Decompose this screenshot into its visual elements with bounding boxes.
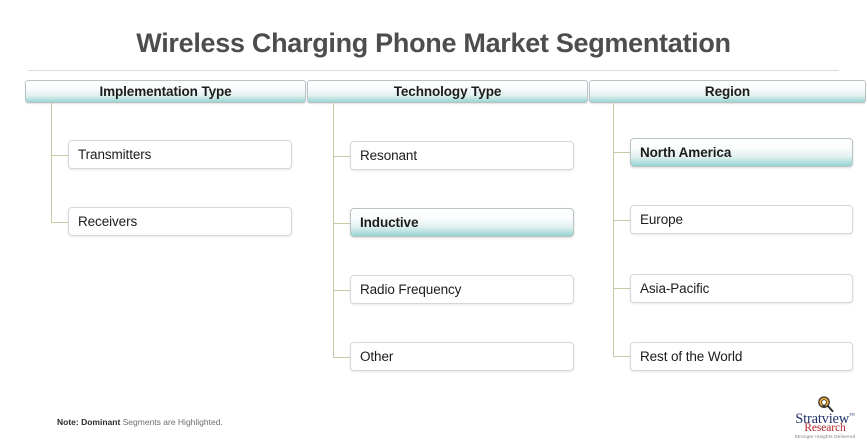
footer-note-rest: Segments are Highlighted. <box>120 417 223 427</box>
connector-stub-column-2-item-3 <box>333 290 350 291</box>
segment-item-europe[interactable]: Europe <box>630 205 853 234</box>
logo-tagline: Stronger Insights Delivered <box>786 434 864 439</box>
connector-stub-column-2-item-1 <box>333 156 350 157</box>
connector-stub-column-2-item-4 <box>333 357 350 358</box>
connector-stub-column-3-item-1 <box>613 152 630 153</box>
segment-item-label: Inductive <box>351 215 418 230</box>
segment-item-rest-of-the-world[interactable]: Rest of the World <box>630 342 853 371</box>
segment-item-north-america[interactable]: North America <box>630 138 853 167</box>
connector-trunk-column-3 <box>613 103 614 356</box>
segmentation-slide: Wireless Charging Phone Market Segmentat… <box>0 0 867 445</box>
segment-item-transmitters[interactable]: Transmitters <box>68 140 292 169</box>
column-header-technology-type[interactable]: Technology Type <box>307 80 588 103</box>
segment-item-label: Rest of the World <box>631 349 742 364</box>
segment-item-resonant[interactable]: Resonant <box>350 141 574 170</box>
segment-item-label: Receivers <box>69 214 137 229</box>
connector-stub-column-1-item-2 <box>51 222 68 223</box>
connector-trunk-column-2 <box>333 103 334 357</box>
segment-item-label: Radio Frequency <box>351 282 461 297</box>
footer-note: Note: Dominant Segments are Highlighted. <box>57 417 223 427</box>
segment-item-label: Other <box>351 349 393 364</box>
segment-item-label: Resonant <box>351 148 417 163</box>
footer-note-emphasis: Note: Dominant <box>57 417 120 427</box>
segment-item-label: Asia-Pacific <box>631 281 709 296</box>
column-header-label: Implementation Type <box>99 84 231 99</box>
connector-trunk-column-1 <box>51 103 52 222</box>
segment-item-label: Europe <box>631 212 683 227</box>
title-divider <box>28 70 839 71</box>
segment-item-label: North America <box>631 145 731 160</box>
column-header-label: Region <box>705 84 750 99</box>
segment-item-asia-pacific[interactable]: Asia-Pacific <box>630 274 853 303</box>
column-header-label: Technology Type <box>394 84 502 99</box>
segment-item-receivers[interactable]: Receivers <box>68 207 292 236</box>
logo-trademark: ™ <box>849 413 855 419</box>
brand-logo[interactable]: Stratview™ Research Stronger Insights De… <box>786 396 864 440</box>
connector-stub-column-2-item-2 <box>333 223 350 224</box>
column-header-region[interactable]: Region <box>589 80 866 103</box>
segment-item-other[interactable]: Other <box>350 342 574 371</box>
connector-stub-column-1-item-1 <box>51 155 68 156</box>
connector-stub-column-3-item-4 <box>613 356 630 357</box>
column-header-implementation-type[interactable]: Implementation Type <box>25 80 306 103</box>
segment-item-radio-frequency[interactable]: Radio Frequency <box>350 275 574 304</box>
logo-subname: Research <box>786 422 864 434</box>
segment-item-label: Transmitters <box>69 147 151 162</box>
segment-item-inductive[interactable]: Inductive <box>350 208 574 237</box>
page-title: Wireless Charging Phone Market Segmentat… <box>0 26 867 60</box>
connector-stub-column-3-item-2 <box>613 220 630 221</box>
connector-stub-column-3-item-3 <box>613 288 630 289</box>
